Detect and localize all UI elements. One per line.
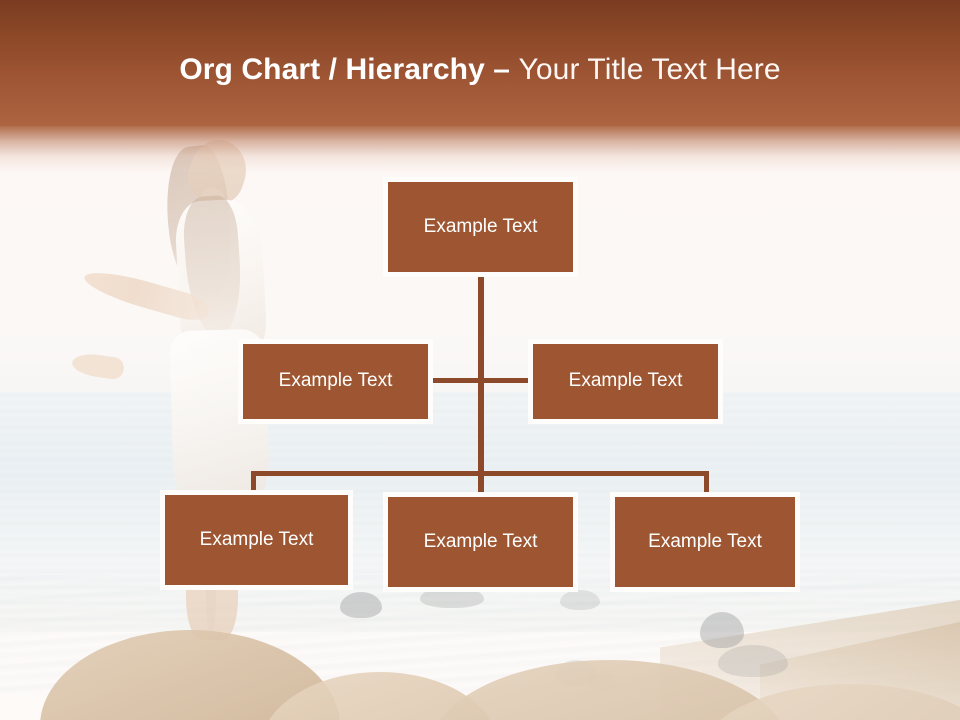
page-title-dash: –	[485, 53, 519, 86]
org-node-bottom-right[interactable]: Example Text	[610, 492, 800, 592]
page-title-bold: Org Chart / Hierarchy	[179, 53, 485, 86]
slide-canvas: Org Chart / Hierarchy – Your Title Text …	[0, 0, 960, 720]
org-node-bottom-left[interactable]: Example Text	[160, 490, 353, 590]
connector-mid-horizontal	[425, 378, 535, 383]
page-title-rest: Your Title Text Here	[519, 53, 781, 86]
org-node-bottom-center[interactable]: Example Text	[383, 492, 578, 592]
org-node-middle-left[interactable]: Example Text	[238, 339, 433, 424]
org-node-root[interactable]: Example Text	[383, 177, 578, 277]
connector-bottom-horizontal	[251, 471, 709, 476]
title-band-fade	[0, 126, 960, 172]
page-title: Org Chart / Hierarchy – Your Title Text …	[0, 50, 960, 90]
connector-root-vertical	[478, 272, 484, 502]
org-node-middle-right[interactable]: Example Text	[528, 339, 723, 424]
